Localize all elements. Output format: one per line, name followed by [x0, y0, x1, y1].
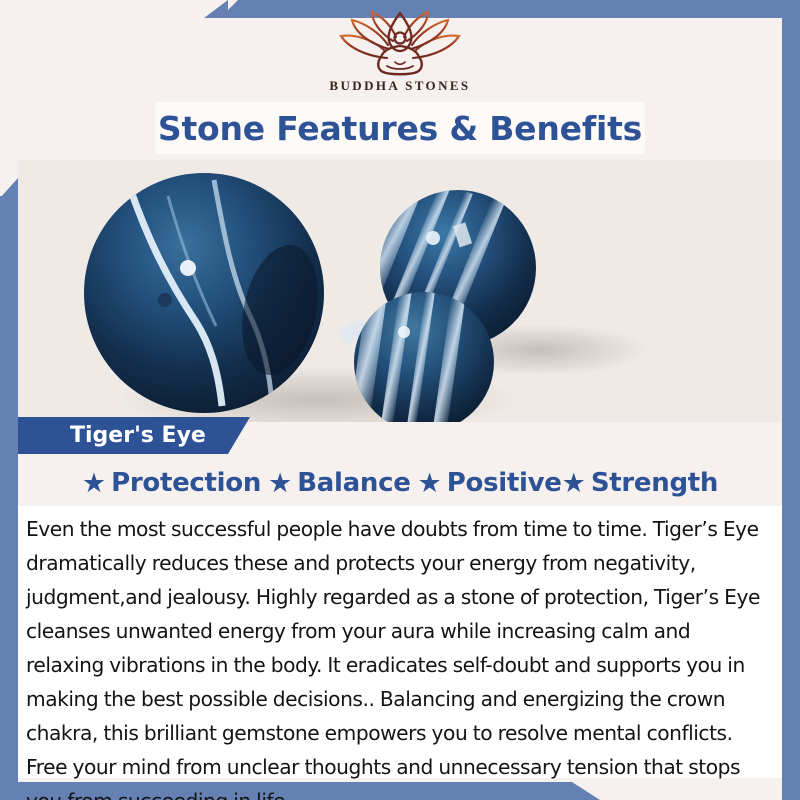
- frame-left-border: [0, 196, 18, 800]
- page-title: Stone Features & Benefits: [158, 109, 642, 148]
- benefit-label: Strength: [591, 468, 718, 498]
- star-icon: ★: [562, 470, 586, 497]
- benefit-item-protection: ★ Protection: [82, 468, 261, 498]
- stone-name-banner: Tiger's Eye: [18, 417, 250, 454]
- star-icon: ★: [268, 470, 292, 497]
- benefit-label: Positive: [447, 468, 562, 498]
- poster-canvas: BUDDHA STONES Stone Features & Benefits: [0, 0, 800, 800]
- stone-name: Tiger's Eye: [18, 423, 206, 448]
- description-card: Even the most successful people have dou…: [18, 506, 782, 778]
- gemstone-spheres-illustration: [18, 160, 782, 422]
- frame-left-border-cap: [0, 178, 18, 198]
- benefit-item-positive: ★ Positive: [418, 468, 562, 498]
- frame-right-border: [782, 0, 800, 800]
- brand-logo: BUDDHA STONES: [0, 10, 800, 105]
- benefit-item-strength: ★ Strength: [562, 468, 719, 498]
- brand-wordmark: BUDDHA STONES: [329, 78, 470, 94]
- benefit-item-balance: ★ Balance: [268, 468, 411, 498]
- benefit-label: Balance: [297, 468, 410, 498]
- benefits-list: ★ Protection ★ Balance ★ Positive ★ Stre…: [18, 462, 782, 504]
- benefit-label: Protection: [111, 468, 261, 498]
- star-icon: ★: [418, 470, 442, 497]
- star-icon: ★: [82, 470, 106, 497]
- hero-image: [18, 160, 782, 422]
- lotus-meditation-figure-icon: [335, 10, 465, 76]
- title-band: Stone Features & Benefits: [155, 102, 645, 154]
- description-text: Even the most successful people have dou…: [26, 512, 766, 800]
